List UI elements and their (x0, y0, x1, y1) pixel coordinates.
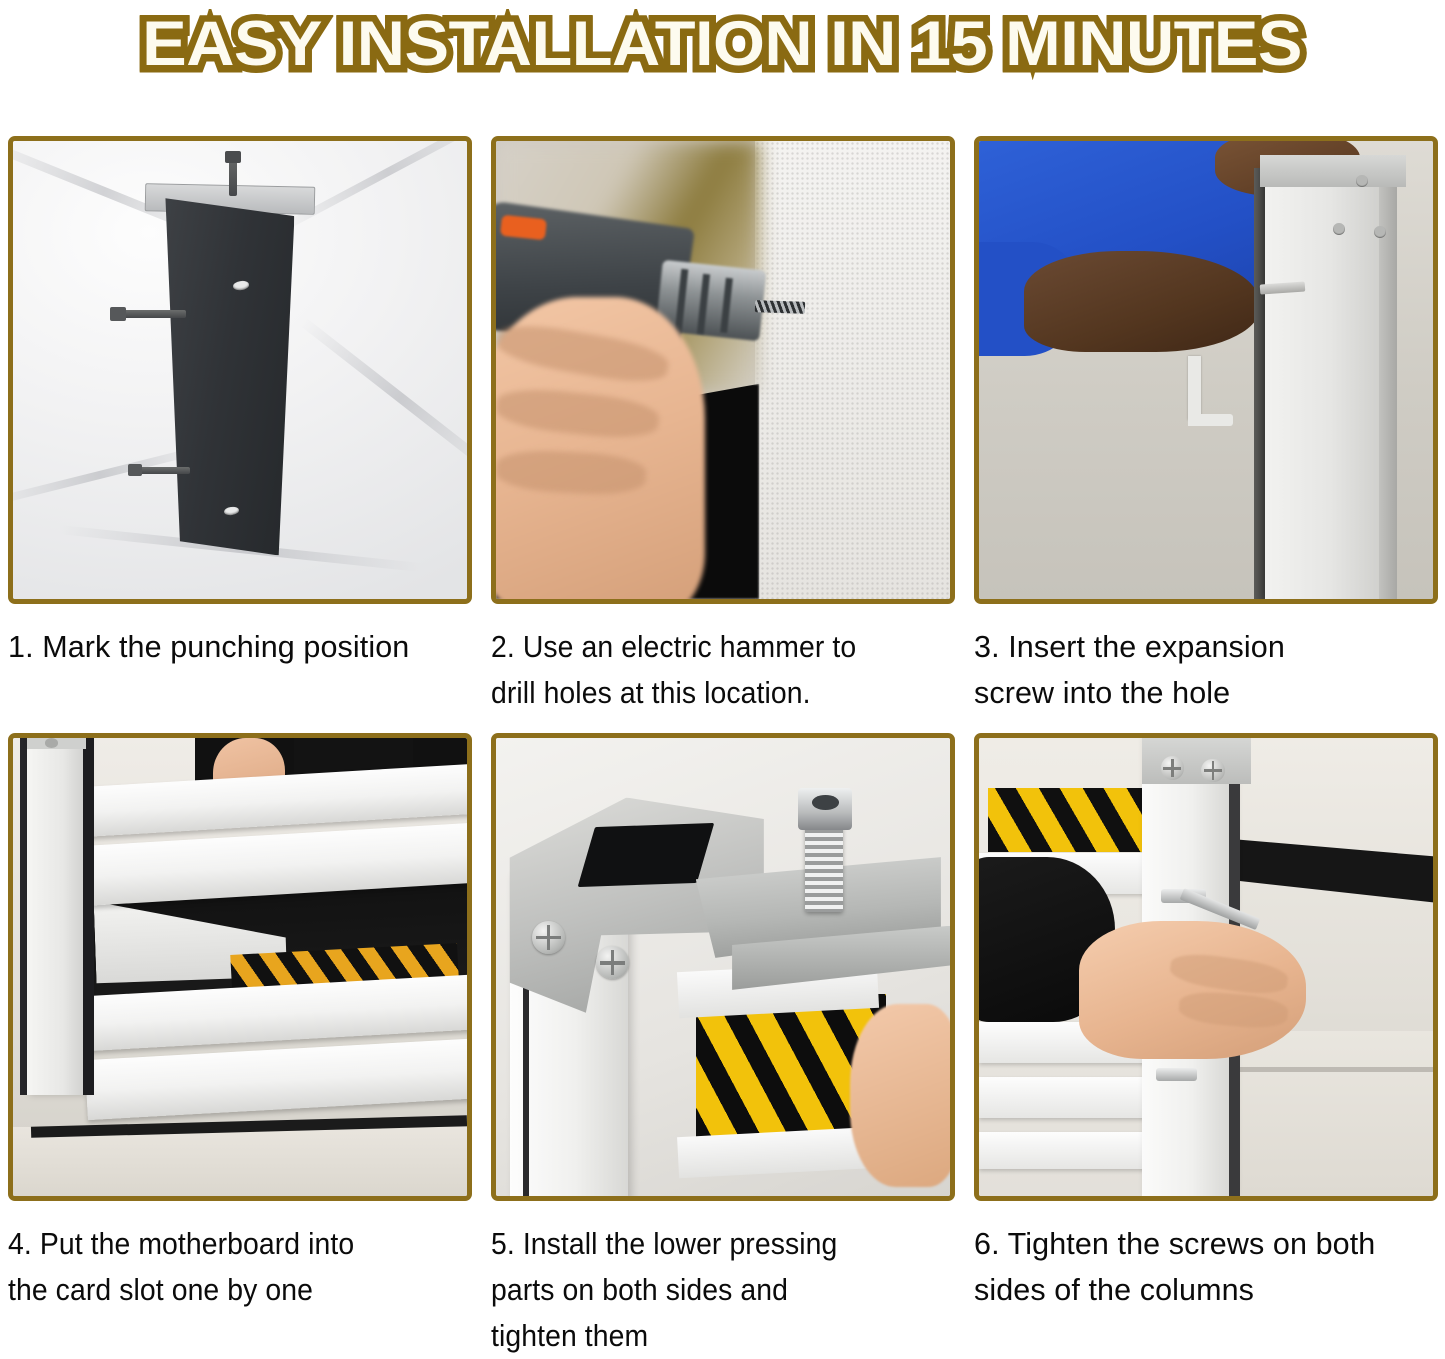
mark-punching-position-photo (13, 141, 467, 599)
install-lower-pressing-parts-photo (496, 738, 950, 1196)
step-4-caption: 4. Put the motherboard into the card slo… (8, 1221, 472, 1321)
step-1-image-frame (8, 136, 472, 604)
step-3-caption-line-1: 3. Insert the expansion (974, 624, 1432, 670)
step-5-caption-line-1: 5. Install the lower pressing (491, 1221, 917, 1267)
step-3-caption: 3. Insert the expansion screw into the h… (974, 624, 1438, 724)
title-banner: EASY INSTALLATION IN 15 MINUTES (0, 0, 1445, 88)
insert-expansion-screw-photo (979, 141, 1433, 599)
step-5-image-frame (491, 733, 955, 1201)
step-6-caption-line-2: sides of the columns (974, 1267, 1432, 1313)
step-card-3: 3. Insert the expansion screw into the h… (974, 136, 1438, 724)
step-1-caption-line-1: 1. Mark the punching position (8, 624, 466, 670)
step-card-6: 6. Tighten the screws on both sides of t… (974, 724, 1438, 1359)
step-card-4: 4. Put the motherboard into the card slo… (8, 724, 472, 1359)
step-4-caption-line-2: the card slot one by one (8, 1267, 434, 1313)
page-title: EASY INSTALLATION IN 15 MINUTES (143, 11, 1303, 77)
step-5-caption-line-3: tighten them (491, 1313, 917, 1359)
step-card-2: 2. Use an electric hammer to drill holes… (491, 136, 955, 724)
tighten-column-screws-photo (979, 738, 1433, 1196)
step-2-caption-line-2: drill holes at this location. (491, 670, 917, 716)
step-2-caption: 2. Use an electric hammer to drill holes… (491, 624, 955, 724)
step-5-caption-line-2: parts on both sides and (491, 1267, 917, 1313)
step-1-caption: 1. Mark the punching position (8, 624, 472, 724)
step-6-caption: 6. Tighten the screws on both sides of t… (974, 1221, 1438, 1321)
insert-motherboard-photo (13, 738, 467, 1196)
steps-grid: 1. Mark the punching position (8, 136, 1437, 1359)
step-4-caption-line-1: 4. Put the motherboard into (8, 1221, 434, 1267)
step-2-image-frame (491, 136, 955, 604)
step-card-5: 5. Install the lower pressing parts on b… (491, 724, 955, 1359)
step-5-caption: 5. Install the lower pressing parts on b… (491, 1221, 955, 1359)
step-2-caption-line-1: 2. Use an electric hammer to (491, 624, 917, 670)
drill-holes-photo (496, 141, 950, 599)
step-card-1: 1. Mark the punching position (8, 136, 472, 724)
step-6-image-frame (974, 733, 1438, 1201)
step-4-image-frame (8, 733, 472, 1201)
step-3-image-frame (974, 136, 1438, 604)
step-6-caption-line-1: 6. Tighten the screws on both (974, 1221, 1432, 1267)
step-3-caption-line-2: screw into the hole (974, 670, 1432, 716)
installation-guide-infographic: EASY INSTALLATION IN 15 MINUTES 1. Mark … (0, 0, 1445, 1352)
